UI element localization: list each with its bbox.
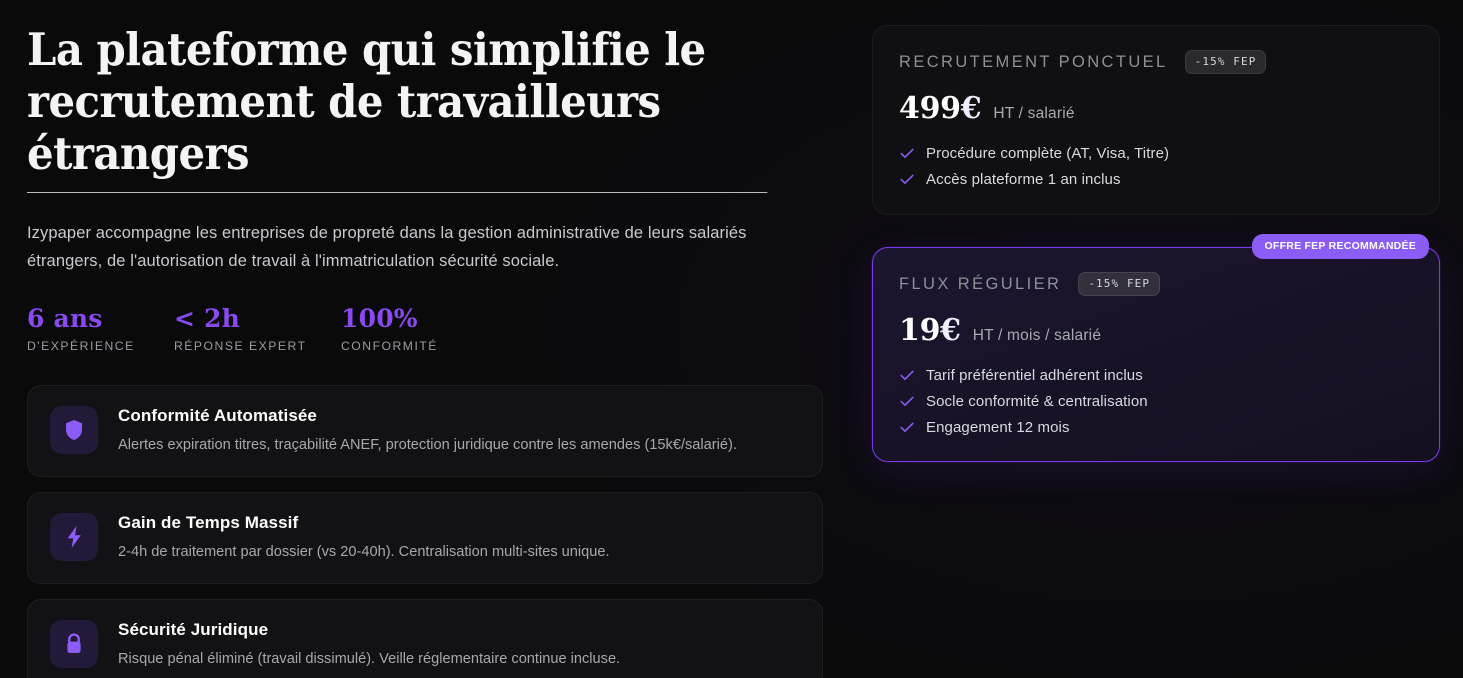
pricing-feature-list: Tarif préférentiel adhérent inclus Socle… bbox=[899, 367, 1413, 436]
pricing-card-flux-regulier[interactable]: OFFRE FEP RECOMMANDÉE FLUX RÉGULIER -15%… bbox=[872, 247, 1440, 462]
stat-label: RÉPONSE EXPERT bbox=[174, 339, 341, 353]
stat-label: D'EXPÉRIENCE bbox=[27, 339, 174, 353]
currency-symbol: € bbox=[961, 91, 982, 126]
price-value: 499 bbox=[899, 91, 961, 126]
stat-value: < 2h bbox=[174, 305, 341, 333]
page-title: La plateforme qui simplifie le recruteme… bbox=[27, 24, 767, 193]
price-line: 499€ HT / salarié bbox=[899, 93, 1413, 125]
lightning-bolt-icon bbox=[50, 513, 98, 561]
price-unit: HT / mois / salarié bbox=[973, 327, 1101, 345]
check-icon bbox=[899, 420, 915, 436]
check-icon bbox=[899, 368, 915, 384]
list-item-label: Tarif préférentiel adhérent inclus bbox=[926, 367, 1143, 384]
check-icon bbox=[899, 172, 915, 188]
list-item: Socle conformité & centralisation bbox=[899, 393, 1413, 410]
landing-hero-page: La plateforme qui simplifie le recruteme… bbox=[0, 0, 1463, 678]
currency-symbol: € bbox=[940, 313, 961, 348]
headline-line-1: La plateforme qui simplifie le bbox=[27, 23, 706, 76]
list-item-label: Accès plateforme 1 an inclus bbox=[926, 171, 1121, 188]
price-amount: 499€ bbox=[899, 93, 981, 125]
feature-description: Risque pénal éliminé (travail dissimulé)… bbox=[118, 648, 620, 670]
pricing-column: RECRUTEMENT PONCTUEL -15% FEP 499€ HT / … bbox=[872, 25, 1440, 462]
headline-line-2: recrutement de travailleurs étrangers bbox=[27, 76, 767, 180]
list-item-label: Procédure complète (AT, Visa, Titre) bbox=[926, 145, 1169, 162]
hero-left-column: La plateforme qui simplifie le recruteme… bbox=[27, 24, 827, 678]
pricing-tier-name: RECRUTEMENT PONCTUEL bbox=[899, 53, 1168, 72]
list-item-label: Engagement 12 mois bbox=[926, 419, 1070, 436]
stat-value: 100% bbox=[341, 305, 491, 333]
feature-title: Conformité Automatisée bbox=[118, 406, 737, 426]
price-value: 19 bbox=[899, 313, 940, 348]
price-line: 19€ HT / mois / salarié bbox=[899, 315, 1413, 347]
feature-body: Conformité Automatisée Alertes expiratio… bbox=[118, 404, 737, 456]
stat-response-time: < 2h RÉPONSE EXPERT bbox=[174, 305, 341, 353]
stat-label: CONFORMITÉ bbox=[341, 339, 491, 353]
list-item: Tarif préférentiel adhérent inclus bbox=[899, 367, 1413, 384]
feature-title: Gain de Temps Massif bbox=[118, 513, 610, 533]
list-item: Engagement 12 mois bbox=[899, 419, 1413, 436]
list-item-label: Socle conformité & centralisation bbox=[926, 393, 1148, 410]
feature-description: Alertes expiration titres, traçabilité A… bbox=[118, 434, 737, 456]
feature-body: Gain de Temps Massif 2-4h de traitement … bbox=[118, 511, 610, 563]
feature-card-gain-de-temps[interactable]: Gain de Temps Massif 2-4h de traitement … bbox=[27, 492, 823, 584]
feature-card-list: Conformité Automatisée Alertes expiratio… bbox=[27, 385, 823, 678]
stat-compliance: 100% CONFORMITÉ bbox=[341, 305, 491, 353]
price-amount: 19€ bbox=[899, 315, 961, 347]
feature-title: Sécurité Juridique bbox=[118, 620, 620, 640]
feature-body: Sécurité Juridique Risque pénal éliminé … bbox=[118, 618, 620, 670]
stat-value: 6 ans bbox=[27, 305, 174, 333]
feature-card-securite-juridique[interactable]: Sécurité Juridique Risque pénal éliminé … bbox=[27, 599, 823, 678]
pricing-header: FLUX RÉGULIER -15% FEP bbox=[899, 272, 1413, 296]
price-unit: HT / salarié bbox=[993, 105, 1074, 123]
pricing-feature-list: Procédure complète (AT, Visa, Titre) Acc… bbox=[899, 145, 1413, 188]
pricing-header: RECRUTEMENT PONCTUEL -15% FEP bbox=[899, 50, 1413, 74]
check-icon bbox=[899, 146, 915, 162]
lock-icon bbox=[50, 620, 98, 668]
stat-experience: 6 ans D'EXPÉRIENCE bbox=[27, 305, 174, 353]
list-item: Procédure complète (AT, Visa, Titre) bbox=[899, 145, 1413, 162]
list-item: Accès plateforme 1 an inclus bbox=[899, 171, 1413, 188]
check-icon bbox=[899, 394, 915, 410]
feature-description: 2-4h de traitement par dossier (vs 20-40… bbox=[118, 541, 610, 563]
stats-row: 6 ans D'EXPÉRIENCE < 2h RÉPONSE EXPERT 1… bbox=[27, 305, 827, 353]
hero-subheadline: Izypaper accompagne les entreprises de p… bbox=[27, 219, 817, 275]
discount-chip: -15% FEP bbox=[1185, 50, 1267, 74]
feature-card-conformite[interactable]: Conformité Automatisée Alertes expiratio… bbox=[27, 385, 823, 477]
shield-icon bbox=[50, 406, 98, 454]
status-badge: OFFRE FEP RECOMMANDÉE bbox=[1252, 234, 1429, 259]
discount-chip: -15% FEP bbox=[1078, 272, 1160, 296]
pricing-tier-name: FLUX RÉGULIER bbox=[899, 275, 1061, 294]
pricing-card-recrutement-ponctuel[interactable]: RECRUTEMENT PONCTUEL -15% FEP 499€ HT / … bbox=[872, 25, 1440, 215]
